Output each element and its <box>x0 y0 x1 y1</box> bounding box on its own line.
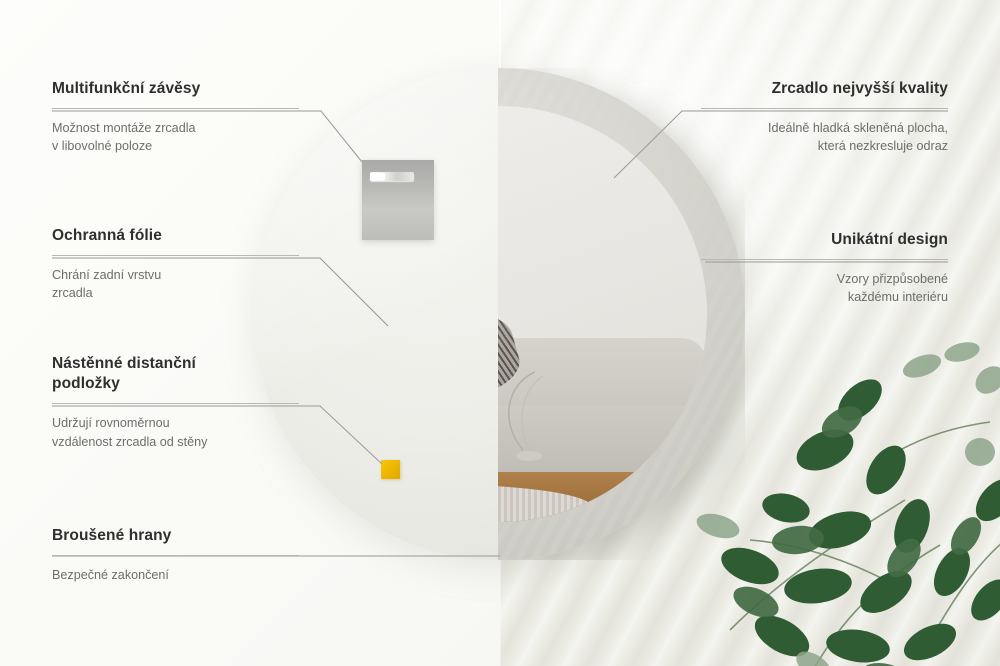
feature-rule <box>52 255 299 256</box>
feature-multifunkcni-zavesy: Multifunkční závěsy Možnost montáže zrca… <box>52 79 299 156</box>
feature-desc-line2: v libovolné poloze <box>52 139 152 153</box>
feature-rule <box>52 403 299 404</box>
feature-desc-line2: zrcadla <box>52 286 93 300</box>
feature-title: Zrcadlo nejvyšší kvality <box>701 79 948 99</box>
reflection-floor-lamp-icon <box>498 364 601 484</box>
feature-desc-line1: Udržují rovnoměrnou <box>52 416 170 430</box>
feature-desc-line1: Bezpečné zakončení <box>52 568 169 582</box>
feature-title: Multifunkční závěsy <box>52 79 299 99</box>
feature-desc: Udržují rovnoměrnou vzdálenost zrcadla o… <box>52 414 299 451</box>
feature-title-line1: Nástěnné distanční <box>52 355 196 372</box>
feature-desc-line1: Ideálně hladká skleněná plocha, <box>768 121 948 135</box>
feature-unikatni-design: Unikátní design Vzory přizpůsobené každé… <box>701 230 948 307</box>
feature-rule <box>52 555 299 556</box>
feature-desc-line1: Chrání zadní vrstvu <box>52 268 161 282</box>
feature-rule <box>52 108 299 109</box>
feature-rule <box>701 259 948 260</box>
feature-desc-line1: Vzory přizpůsobené <box>837 272 948 286</box>
feature-desc: Chrání zadní vrstvu zrcadla <box>52 266 299 303</box>
feature-desc-line1: Možnost montáže zrcadla <box>52 121 196 135</box>
feature-desc: Bezpečné zakončení <box>52 566 299 584</box>
feature-title: Broušené hrany <box>52 526 299 546</box>
mirror-glass-reflection <box>498 106 707 522</box>
green-leaves-branch <box>690 330 1000 666</box>
feature-brousene-hrany: Broušené hrany Bezpečné zakončení <box>52 526 299 584</box>
feature-desc-line2: která nezkresluje odraz <box>818 139 948 153</box>
hanger-slot-hole <box>372 173 385 180</box>
wall-spacer-pad <box>381 460 400 479</box>
feature-desc: Možnost montáže zrcadla v libovolné polo… <box>52 119 299 156</box>
feature-desc-line2: vzdálenost zrcadla od stěny <box>52 435 207 449</box>
feature-title: Ochranná fólie <box>52 226 299 246</box>
feature-title: Unikátní design <box>701 230 948 250</box>
feature-zrcadlo-nejvyssi-kvality: Zrcadlo nejvyšší kvality Ideálně hladká … <box>701 79 948 156</box>
feature-title: Nástěnné distanční podložky <box>52 354 299 394</box>
feature-desc: Ideálně hladká skleněná plocha, která ne… <box>701 119 948 156</box>
infographic-canvas: Multifunkční závěsy Možnost montáže zrca… <box>0 0 1000 666</box>
feature-ochranna-folie: Ochranná fólie Chrání zadní vrstvu zrcad… <box>52 226 299 303</box>
feature-desc: Vzory přizpůsobené každému interiéru <box>701 270 948 307</box>
feature-title-line2: podložky <box>52 375 120 392</box>
feature-rule <box>701 108 948 109</box>
feature-desc-line2: každému interiéru <box>848 290 948 304</box>
feature-nastenne-distancni-podlozky: Nástěnné distanční podložky Udržují rovn… <box>52 354 299 451</box>
